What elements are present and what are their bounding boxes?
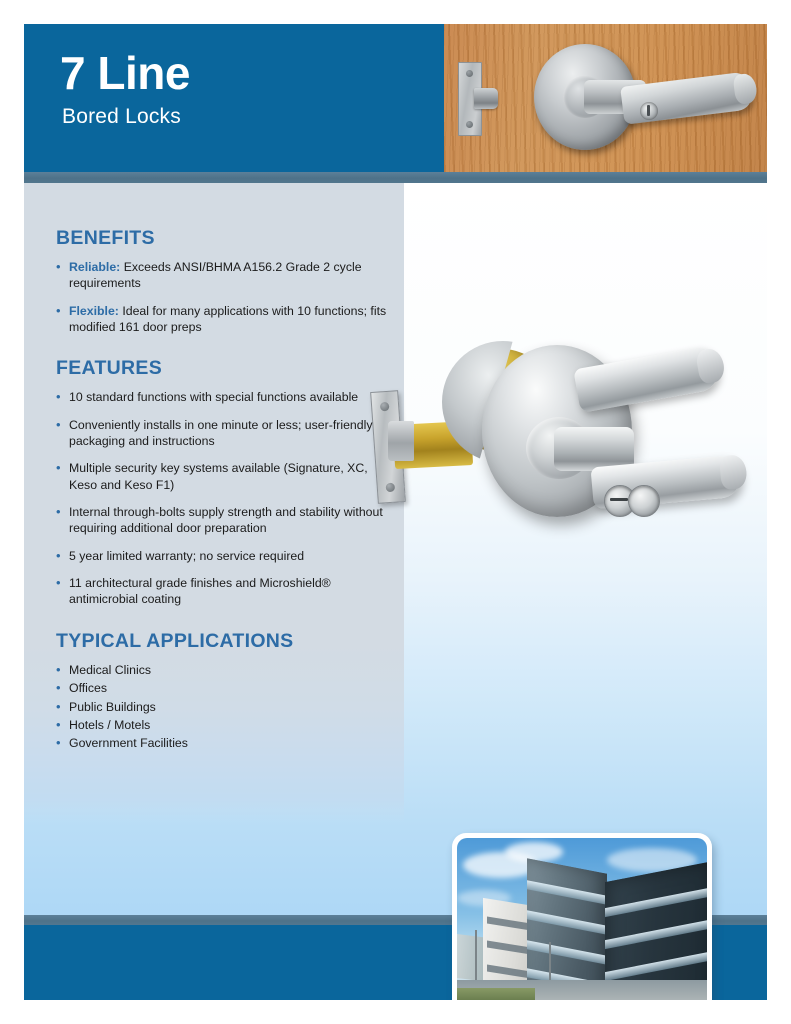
- latch-bolt-icon: [474, 88, 498, 109]
- glass-band: [605, 920, 707, 949]
- door-keyhole-icon: [640, 102, 658, 120]
- bullet-text: Internal through-bolts supply strength a…: [69, 505, 383, 535]
- bullet-text: Conveniently installs in one minute or l…: [69, 418, 372, 448]
- facade-band: [487, 917, 531, 931]
- bullet-text: Hotels / Motels: [69, 718, 150, 732]
- list-item: 11 architectural grade finishes and Micr…: [56, 575, 396, 608]
- bullet-text: Government Facilities: [69, 736, 188, 750]
- section-typical-applications: TYPICAL APPLICATIONS Medical Clinics Off…: [56, 630, 396, 752]
- bullet-lead-in: Reliable:: [69, 260, 120, 274]
- lockset-keyway-icon: [604, 483, 666, 519]
- glass-band: [527, 880, 607, 905]
- keyway-right-icon: [628, 485, 660, 517]
- facade-band: [487, 965, 531, 979]
- street-lamp-icon: [475, 930, 477, 984]
- list-item: Public Buildings: [56, 699, 396, 715]
- building-photo-inner: [457, 838, 707, 1000]
- list-item: Conveniently installs in one minute or l…: [56, 417, 396, 450]
- facade-band: [487, 941, 531, 955]
- list-item: Flexible: Ideal for many applications wi…: [56, 303, 396, 336]
- bullet-text: 11 architectural grade finishes and Micr…: [69, 576, 331, 606]
- features-list: 10 standard functions with special funct…: [56, 389, 396, 607]
- bullet-text: 10 standard functions with special funct…: [69, 390, 358, 404]
- list-item: Multiple security key systems available …: [56, 460, 396, 493]
- glass-band: [605, 952, 707, 981]
- list-item: 5 year limited warranty; no service requ…: [56, 548, 396, 564]
- list-item: 10 standard functions with special funct…: [56, 389, 396, 405]
- door-lever-photo: [444, 24, 767, 172]
- datasheet-page: 7 Line Bored Locks: [24, 24, 767, 1000]
- header-divider: [24, 172, 767, 183]
- glass-band: [605, 888, 707, 917]
- bullet-text: Offices: [69, 681, 107, 695]
- list-item: Hotels / Motels: [56, 717, 396, 733]
- section-heading-typical-applications: TYPICAL APPLICATIONS: [56, 630, 396, 653]
- list-item: Internal through-bolts supply strength a…: [56, 504, 396, 537]
- list-item: Government Facilities: [56, 735, 396, 751]
- header-title-group: 7 Line Bored Locks: [60, 50, 190, 129]
- content-column: BENEFITS Reliable: Exceeds ANSI/BHMA A15…: [56, 227, 396, 774]
- office-building-photo: [452, 833, 712, 1000]
- body-area: BENEFITS Reliable: Exceeds ANSI/BHMA A15…: [24, 183, 767, 915]
- glass-band: [527, 940, 607, 965]
- bullet-text: Multiple security key systems available …: [69, 461, 368, 491]
- page-title: 7 Line: [60, 50, 190, 96]
- list-item: Reliable: Exceeds ANSI/BHMA A156.2 Grade…: [56, 259, 396, 292]
- lockset-product-photo: [354, 311, 754, 591]
- landscaping: [457, 988, 535, 1000]
- page-subtitle: Bored Locks: [62, 105, 190, 129]
- section-heading-features: FEATURES: [56, 357, 396, 380]
- typical-applications-list: Medical Clinics Offices Public Buildings…: [56, 662, 396, 752]
- header-banner: 7 Line Bored Locks: [24, 24, 767, 172]
- list-item: Offices: [56, 680, 396, 696]
- main-facade-icon: [527, 858, 607, 1000]
- benefits-list: Reliable: Exceeds ANSI/BHMA A156.2 Grade…: [56, 259, 396, 335]
- section-features: FEATURES 10 standard functions with spec…: [56, 357, 396, 607]
- lockset-upper-lever-icon: [573, 345, 720, 413]
- section-heading-benefits: BENEFITS: [56, 227, 396, 250]
- bullet-lead-in: Flexible:: [69, 304, 119, 318]
- list-item: Medical Clinics: [56, 662, 396, 678]
- section-benefits: BENEFITS Reliable: Exceeds ANSI/BHMA A15…: [56, 227, 396, 335]
- bullet-text: Public Buildings: [69, 700, 156, 714]
- bullet-text: 5 year limited warranty; no service requ…: [69, 549, 304, 563]
- glass-band: [527, 910, 607, 935]
- bullet-text: Medical Clinics: [69, 663, 151, 677]
